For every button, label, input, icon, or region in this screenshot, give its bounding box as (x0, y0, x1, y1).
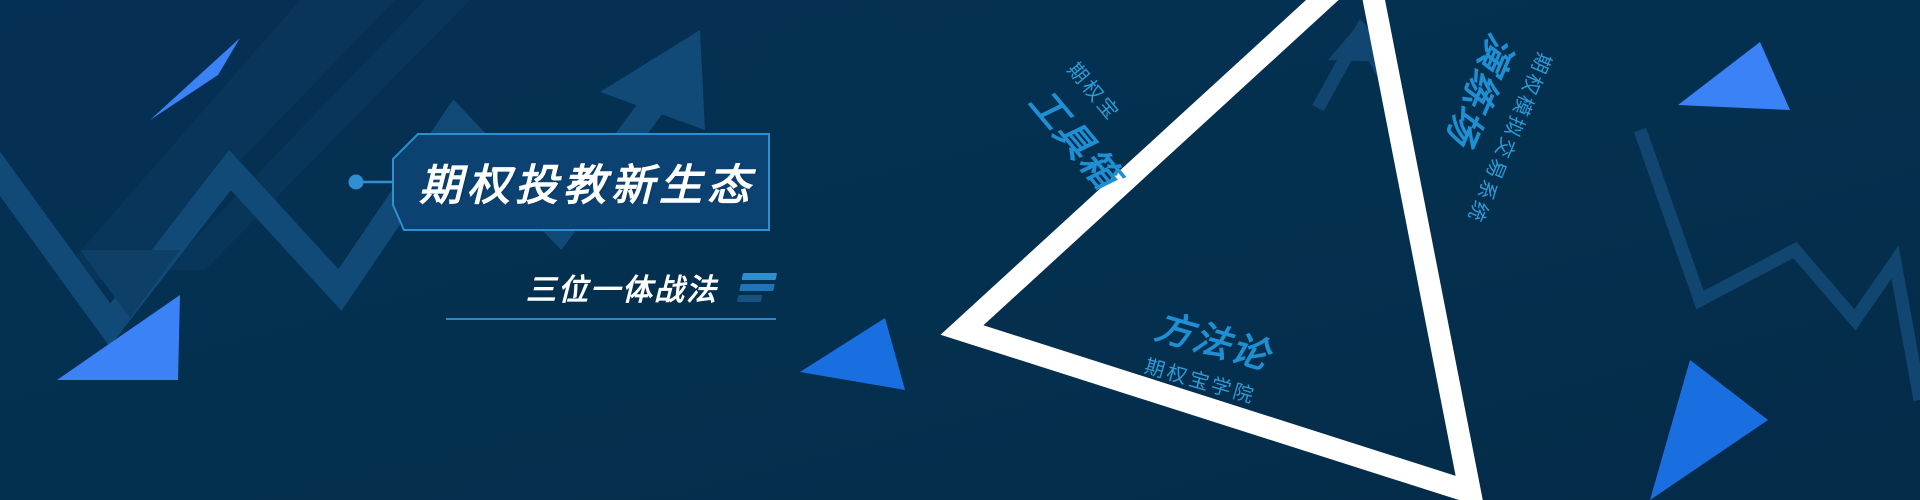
subtitle-row: 三位一体战法 (446, 258, 776, 316)
three-bars-icon (737, 273, 779, 302)
subtitle-divider (446, 318, 776, 320)
title-badge: 期权投教新生态 (392, 133, 770, 231)
background-decor-layer (0, 0, 1920, 500)
page-title: 期权投教新生态 (419, 151, 755, 213)
subtitle-text: 三位一体战法 (526, 265, 718, 309)
badge-dot-icon (349, 175, 364, 190)
promo-banner: 期权投教新生态 三位一体战法 期权宝 工具箱 期权模拟交易系统 演练场 方法论 … (0, 0, 1920, 500)
